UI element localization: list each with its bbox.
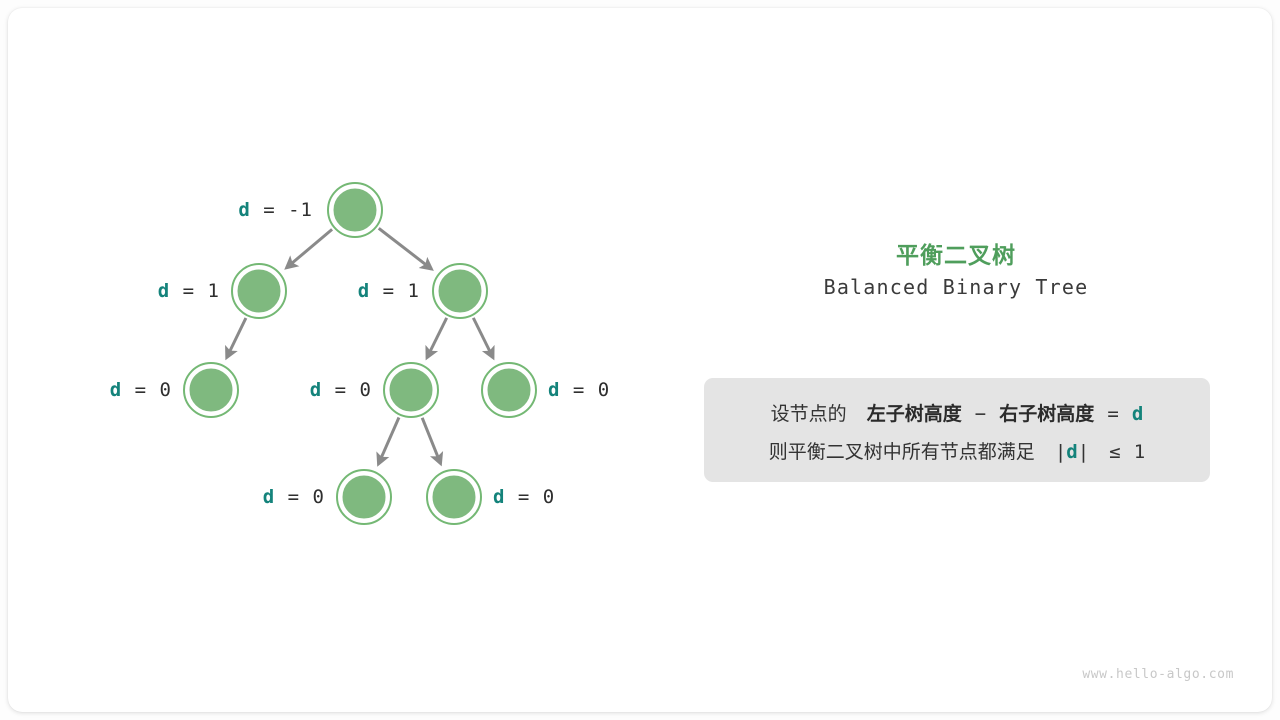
node-label-variable: d <box>493 486 505 508</box>
tree-node-circle <box>432 475 477 520</box>
tree-node-circle <box>487 368 532 413</box>
node-label-value: = 1 <box>370 280 420 302</box>
balance-factor-variable: d <box>1132 403 1143 425</box>
node-balance-label: d = 1 <box>358 280 420 302</box>
node-label-value: = 1 <box>170 280 220 302</box>
node-balance-label: d = -1 <box>238 199 313 221</box>
panel-title: 平衡二叉树 <box>698 236 1214 270</box>
node-label-variable: d <box>310 379 322 401</box>
tree-edge <box>378 417 398 464</box>
tree-node <box>433 264 487 318</box>
node-balance-label: d = 0 <box>310 379 372 401</box>
node-label-value: = -1 <box>251 199 313 221</box>
constraint-value: 1 <box>1134 441 1145 463</box>
tree-svg <box>8 8 688 712</box>
tree-edge <box>422 418 440 464</box>
tree-node-circle <box>237 269 282 314</box>
tree-edge <box>473 318 493 358</box>
node-label-value: = 0 <box>322 379 372 401</box>
node-label-variable: d <box>358 280 370 302</box>
content-card: d = -1d = 1d = 1d = 0d = 0d = 0d = 0d = … <box>8 8 1272 712</box>
definition-prefix: 设节点的 <box>771 403 847 425</box>
tree-node <box>184 363 238 417</box>
node-balance-label: d = 0 <box>493 486 555 508</box>
node-label-variable: d <box>238 199 250 221</box>
tree-node <box>482 363 536 417</box>
watermark-url: www.hello-algo.com <box>1082 667 1234 682</box>
left-subtree-height-term: 左子树高度 <box>867 403 962 425</box>
tree-edge <box>379 228 432 269</box>
tree-node-circle <box>342 475 387 520</box>
tree-nodes <box>184 183 536 524</box>
tree-node-circle <box>438 269 483 314</box>
node-balance-label: d = 0 <box>110 379 172 401</box>
node-label-variable: d <box>110 379 122 401</box>
abs-bar-open: | <box>1055 441 1066 463</box>
node-label-variable: d <box>263 486 275 508</box>
description-panel: 平衡二叉树 Balanced Binary Tree 设节点的 左子树高度 − … <box>698 8 1272 712</box>
tree-edge <box>227 318 246 358</box>
node-balance-label: d = 0 <box>548 379 610 401</box>
definition-line-2: 则平衡二叉树中所有节点都满足 |d| ≤ 1 <box>704 437 1210 464</box>
constraint-prefix: 则平衡二叉树中所有节点都满足 <box>769 441 1035 463</box>
abs-bar-close: | <box>1078 441 1089 463</box>
tree-node <box>384 363 438 417</box>
binary-tree-diagram: d = -1d = 1d = 1d = 0d = 0d = 0d = 0d = … <box>8 8 688 712</box>
right-subtree-height-term: 右子树高度 <box>999 403 1094 425</box>
node-label-variable: d <box>158 280 170 302</box>
tree-edge <box>427 318 447 358</box>
definition-line-1: 设节点的 左子树高度 − 右子树高度 = d <box>704 399 1210 426</box>
tree-node <box>427 470 481 524</box>
less-equal-operator: ≤ <box>1109 441 1120 463</box>
tree-node <box>328 183 382 237</box>
tree-node <box>232 264 286 318</box>
definition-info-box: 设节点的 左子树高度 − 右子树高度 = d 则平衡二叉树中所有节点都满足 |d… <box>704 378 1210 482</box>
tree-edges <box>227 228 493 464</box>
equals-operator: = <box>1107 403 1118 425</box>
node-label-variable: d <box>548 379 560 401</box>
node-balance-label: d = 0 <box>263 486 325 508</box>
node-label-value: = 0 <box>122 379 172 401</box>
screenshot-canvas: d = -1d = 1d = 1d = 0d = 0d = 0d = 0d = … <box>0 0 1280 720</box>
tree-edge <box>287 229 333 267</box>
tree-node-circle <box>389 368 434 413</box>
tree-node <box>337 470 391 524</box>
balance-factor-variable-abs: d <box>1066 441 1077 463</box>
node-label-value: = 0 <box>560 379 610 401</box>
node-label-value: = 0 <box>505 486 555 508</box>
tree-node-circle <box>189 368 234 413</box>
node-balance-label: d = 1 <box>158 280 220 302</box>
panel-subtitle: Balanced Binary Tree <box>698 275 1214 299</box>
node-label-value: = 0 <box>275 486 325 508</box>
tree-node-circle <box>333 188 378 233</box>
minus-operator: − <box>975 403 986 425</box>
